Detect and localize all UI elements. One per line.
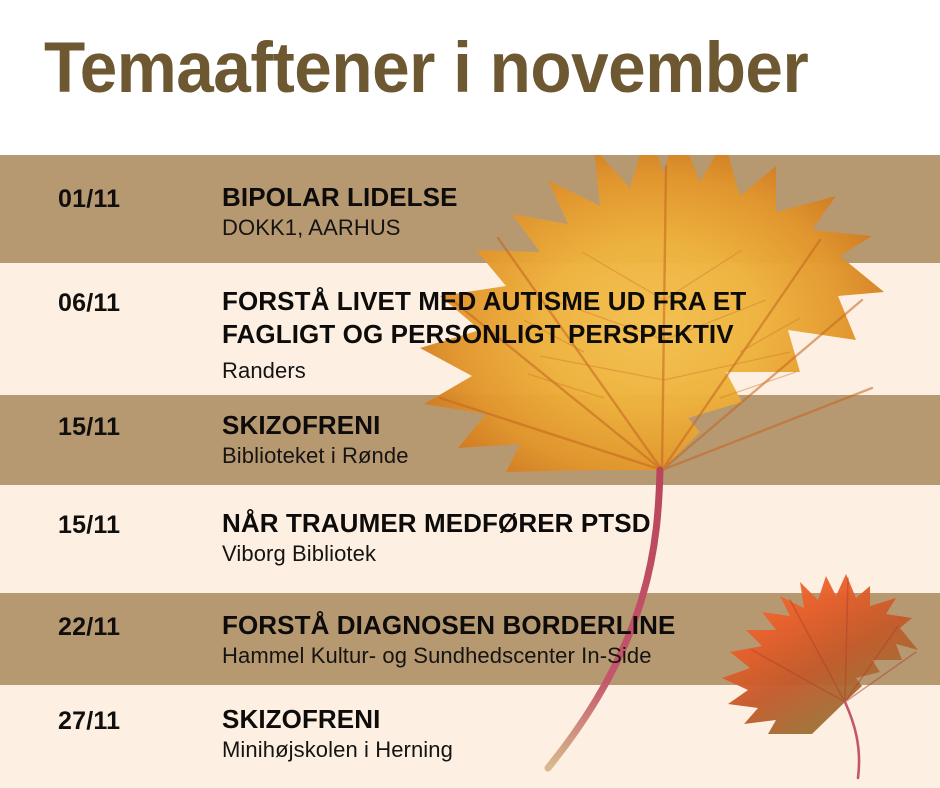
list-item[interactable]: 15/11 NÅR TRAUMER MEDFØRER PTSD Viborg B… bbox=[0, 485, 940, 593]
event-body: FORSTÅ LIVET MED AUTISME UD FRA ET FAGLI… bbox=[222, 285, 922, 385]
list-item[interactable]: 06/11 FORSTÅ LIVET MED AUTISME UD FRA ET… bbox=[0, 263, 940, 395]
event-title: SKIZOFRENI bbox=[222, 703, 922, 736]
poster-canvas: Temaaftener i november 01/11 BIPOLAR LID… bbox=[0, 0, 940, 788]
event-title: NÅR TRAUMER MEDFØRER PTSD bbox=[222, 507, 922, 540]
event-date: 22/11 bbox=[58, 613, 120, 642]
event-venue: Randers bbox=[222, 357, 922, 385]
event-body: BIPOLAR LIDELSE DOKK1, AARHUS bbox=[222, 181, 922, 242]
event-date: 27/11 bbox=[58, 707, 120, 736]
event-body: SKIZOFRENI Biblioteket i Rønde bbox=[222, 409, 922, 470]
event-venue: DOKK1, AARHUS bbox=[222, 214, 922, 242]
event-venue: Biblioteket i Rønde bbox=[222, 442, 922, 470]
event-date: 06/11 bbox=[58, 289, 120, 318]
event-venue: Hammel Kultur- og Sundhedscenter In-Side bbox=[222, 642, 922, 670]
event-date: 15/11 bbox=[58, 413, 120, 442]
event-title: SKIZOFRENI bbox=[222, 409, 922, 442]
event-date: 01/11 bbox=[58, 185, 120, 214]
event-title: FORSTÅ LIVET MED AUTISME UD FRA ET FAGLI… bbox=[222, 285, 922, 351]
event-body: FORSTÅ DIAGNOSEN BORDERLINE Hammel Kultu… bbox=[222, 609, 922, 670]
event-body: NÅR TRAUMER MEDFØRER PTSD Viborg Bibliot… bbox=[222, 507, 922, 568]
list-item[interactable]: 15/11 SKIZOFRENI Biblioteket i Rønde bbox=[0, 395, 940, 485]
list-item[interactable]: 27/11 SKIZOFRENI Minihøjskolen i Herning bbox=[0, 685, 940, 788]
event-venue: Viborg Bibliotek bbox=[222, 540, 922, 568]
event-title: BIPOLAR LIDELSE bbox=[222, 181, 922, 214]
event-body: SKIZOFRENI Minihøjskolen i Herning bbox=[222, 703, 922, 764]
list-item[interactable]: 22/11 FORSTÅ DIAGNOSEN BORDERLINE Hammel… bbox=[0, 593, 940, 685]
list-item[interactable]: 01/11 BIPOLAR LIDELSE DOKK1, AARHUS bbox=[0, 155, 940, 263]
event-list: 01/11 BIPOLAR LIDELSE DOKK1, AARHUS 06/1… bbox=[0, 0, 940, 788]
event-title: FORSTÅ DIAGNOSEN BORDERLINE bbox=[222, 609, 922, 642]
event-venue: Minihøjskolen i Herning bbox=[222, 736, 922, 764]
event-date: 15/11 bbox=[58, 511, 120, 540]
